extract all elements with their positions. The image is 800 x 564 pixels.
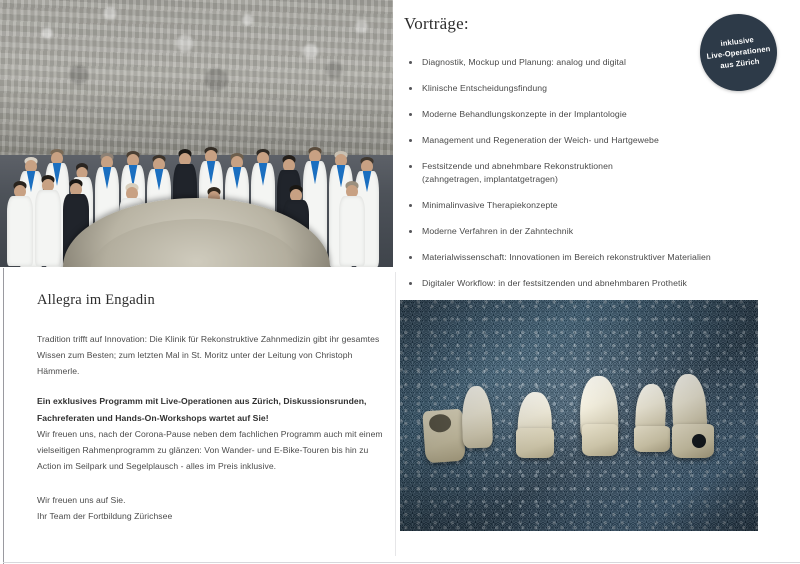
intro-paragraph-1: Tradition trifft auf Innovation: Die Kli… [37, 331, 387, 379]
bullet-icon [409, 282, 412, 285]
talks-item-text: Materialwissenschaft: Innovationen im Be… [422, 252, 711, 262]
talks-item-text: Moderne Verfahren in der Zahntechnik [422, 226, 573, 236]
talks-item-text: Minimalinvasive Therapiekonzepte [422, 200, 558, 210]
page-left-border [3, 268, 4, 564]
group-photo-image [0, 0, 393, 267]
page-root: Vorträge: Diagnostik, Mockup und Planung… [0, 0, 800, 564]
photo-background-texture [0, 0, 393, 166]
talks-item-text: Festsitzende und abnehmbare Rekonstrukti… [422, 161, 613, 171]
talks-list-item: Management und Regeneration der Weich- u… [406, 134, 796, 147]
intro-paragraph-3: Wir freuen uns, nach der Corona-Pause ne… [37, 426, 387, 474]
bullet-icon [409, 256, 412, 259]
dental-crowns-image [400, 300, 758, 531]
talks-list-item: Digitaler Workflow: in der festsitzenden… [406, 277, 796, 290]
closing-line-2: Ihr Team der Fortbildung Zürichsee [37, 508, 387, 524]
talks-list-item: Minimalinvasive Therapiekonzepte [406, 199, 796, 212]
photo-vignette [400, 300, 758, 531]
talks-list: Diagnostik, Mockup und Planung: analog u… [406, 56, 796, 303]
talks-list-item: Moderne Verfahren in der Zahntechnik [406, 225, 796, 238]
column-divider [395, 272, 396, 556]
bullet-icon [409, 87, 412, 90]
talks-item-text: Digitaler Workflow: in der festsitzenden… [422, 278, 687, 288]
page-bottom-border [3, 562, 800, 563]
intro-column: Allegra im Engadin Tradition trifft auf … [37, 292, 387, 525]
talks-item-text: Management und Regeneration der Weich- u… [422, 135, 659, 145]
bullet-icon [409, 204, 412, 207]
bullet-icon [409, 61, 412, 64]
talks-list-item: Festsitzende und abnehmbare Rekonstrukti… [406, 160, 796, 187]
talks-item-text-line2: (zahngetragen, implantatgetragen) [422, 173, 796, 186]
closing-line-1: Wir freuen uns auf Sie. [37, 492, 387, 508]
bullet-icon [409, 230, 412, 233]
talks-item-text: Diagnostik, Mockup und Planung: analog u… [422, 57, 626, 67]
bullet-icon [409, 139, 412, 142]
intro-closing: Wir freuen uns auf Sie. Ihr Team der For… [37, 492, 387, 524]
page-title: Allegra im Engadin [37, 292, 387, 309]
talks-list-item: Materialwissenschaft: Innovationen im Be… [406, 251, 796, 264]
talks-title: Vorträge: [404, 14, 469, 34]
bullet-icon [409, 113, 412, 116]
talks-list-item: Moderne Behandlungskonzepte in der Impla… [406, 108, 796, 121]
talks-item-text: Klinische Entscheidungsfindung [422, 83, 547, 93]
talks-item-text: Moderne Behandlungskonzepte in der Impla… [422, 109, 627, 119]
intro-paragraph-2-highlight: Ein exklusives Programm mit Live-Operati… [37, 393, 387, 425]
bullet-icon [409, 165, 412, 168]
